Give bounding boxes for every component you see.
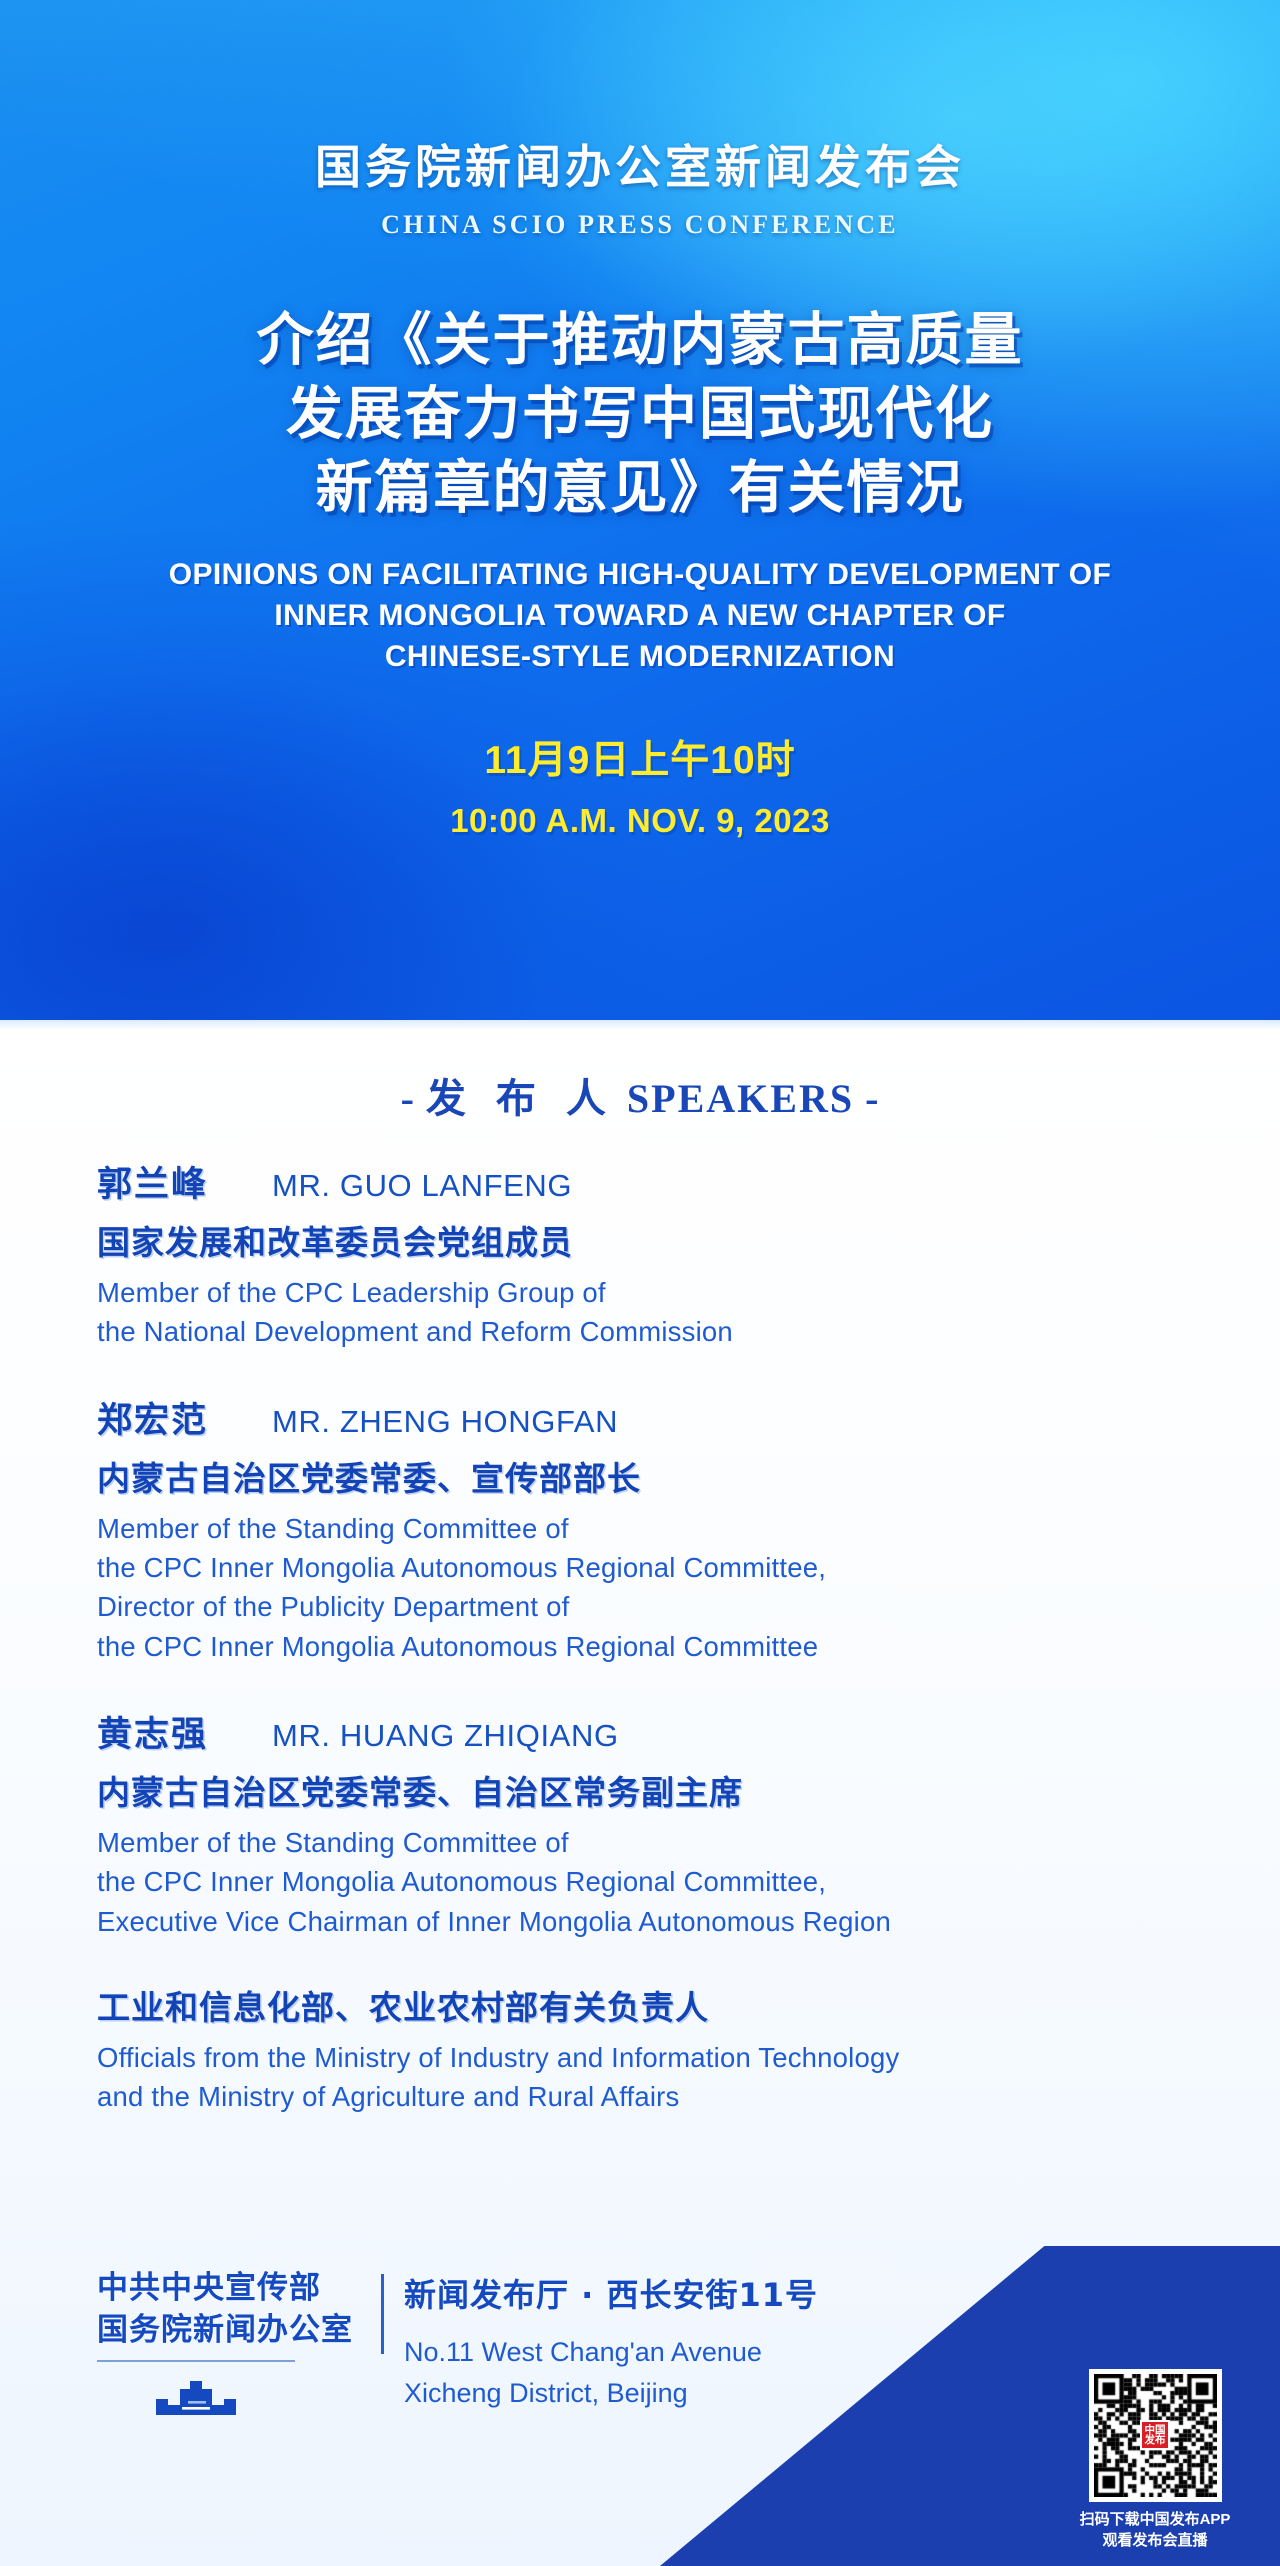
- speaker-title-en-line: the CPC Inner Mongolia Autonomous Region…: [97, 1627, 1240, 1666]
- speaker-title-en-line: Director of the Publicity Department of: [97, 1587, 1240, 1626]
- speakers-heading-dash-left: -: [401, 1076, 415, 1121]
- speaker-title-en: Member of the Standing Committee of the …: [97, 1509, 1240, 1666]
- qr-code-image[interactable]: 中国 发布: [1089, 2369, 1222, 2502]
- qr-center-logo-line-2: 发布: [1145, 2435, 1166, 2446]
- speaker-name-cn: 黄志强: [97, 1706, 208, 1757]
- speaker-title-en: Member of the Standing Committee of the …: [97, 1823, 1240, 1941]
- scio-logo-block: 中共中央宣传部 国务院新闻办公室: [97, 2268, 367, 2419]
- conference-date-en: 10:00 A.M. NOV. 9, 2023: [0, 801, 1280, 841]
- speaker-title-en-line: Member of the CPC Leadership Group of: [97, 1273, 1240, 1312]
- scio-logo-line-2: 国务院新闻办公室: [97, 2310, 367, 2352]
- speaker-list: 郭兰峰 MR. GUO LANFENG 国家发展和改革委员会党组成员 Membe…: [0, 1156, 1280, 2116]
- qr-caption: 扫码下载中国发布APP 观看发布会直播: [1066, 2509, 1244, 2553]
- speaker-title-en: Member of the CPC Leadership Group of th…: [97, 1273, 1240, 1352]
- qr-caption-line-1: 扫码下载中国发布APP: [1066, 2509, 1244, 2531]
- qr-caption-line-2: 观看发布会直播: [1066, 2530, 1244, 2552]
- speaker-name-en: MR. ZHENG HONGFAN: [272, 1404, 618, 1440]
- logo-divider-rule: [97, 2360, 295, 2362]
- venue-address-cn: 新闻发布厅 · 西长安街11号: [404, 2270, 818, 2316]
- speakers-heading-dash-right: -: [865, 1076, 879, 1121]
- hero-banner: 国务院新闻办公室新闻发布会 CHINA SCIO PRESS CONFERENC…: [0, 0, 1280, 1020]
- conference-title-en-line-1: OPINIONS ON FACILITATING HIGH-QUALITY DE…: [0, 555, 1280, 596]
- organization-name-cn: 国务院新闻办公室新闻发布会: [0, 143, 1280, 194]
- speaker-title-en-line: Executive Vice Chairman of Inner Mongoli…: [97, 1902, 1240, 1941]
- speaker-name-en: MR. GUO LANFENG: [272, 1168, 572, 1204]
- speakers-heading: - 发 布 人 SPEAKERS -: [0, 1066, 1280, 1124]
- speaker-name-cn: 郭兰峰: [97, 1156, 208, 1207]
- conference-title-cn: 介绍《关于推动内蒙古高质量 发展奋力书写中国式现代化 新篇章的意见》有关情况: [0, 303, 1280, 525]
- speaker-title-en: Officials from the Ministry of Industry …: [97, 2038, 1240, 2117]
- speaker-title-en-line: Member of the Standing Committee of: [97, 1509, 1240, 1548]
- speaker-name-cn: 郑宏范: [97, 1392, 208, 1443]
- speakers-heading-cn: 发 布 人: [426, 1076, 616, 1121]
- speaker-title-cn: 内蒙古自治区党委常委、宣传部部长: [97, 1452, 1240, 1500]
- speaker-item: 郑宏范 MR. ZHENG HONGFAN 内蒙古自治区党委常委、宣传部部长 M…: [97, 1392, 1240, 1666]
- venue-address-en: No.11 West Chang'an Avenue Xicheng Distr…: [404, 2332, 818, 2413]
- organization-name-en: CHINA SCIO PRESS CONFERENCE: [0, 211, 1280, 240]
- conference-title-en-line-3: CHINESE-STYLE MODERNIZATION: [0, 637, 1280, 678]
- speaker-title-cn: 国家发展和改革委员会党组成员: [97, 1216, 1240, 1264]
- conference-title-cn-line-1: 介绍《关于推动内蒙古高质量: [0, 303, 1280, 377]
- press-conference-poster: 国务院新闻办公室新闻发布会 CHINA SCIO PRESS CONFERENC…: [0, 0, 1280, 2566]
- speaker-title-en-line: and the Ministry of Agriculture and Rura…: [97, 2077, 1240, 2116]
- speaker-name-row: 郭兰峰 MR. GUO LANFENG: [97, 1156, 1240, 1207]
- venue-block: 新闻发布厅 · 西长安街11号 No.11 West Chang'an Aven…: [384, 2268, 818, 2419]
- speaker-item: 黄志强 MR. HUANG ZHIQIANG 内蒙古自治区党委常委、自治区常务副…: [97, 1706, 1240, 1941]
- speaker-item: 郭兰峰 MR. GUO LANFENG 国家发展和改革委员会党组成员 Membe…: [97, 1156, 1240, 1352]
- speaker-name-row: 黄志强 MR. HUANG ZHIQIANG: [97, 1706, 1240, 1757]
- footer: 中共中央宣传部 国务院新闻办公室 新闻发布厅 · 西长安街11号: [0, 2246, 1280, 2566]
- speaker-title-en-line: Officials from the Ministry of Industry …: [97, 2038, 1240, 2077]
- conference-title-cn-line-2: 发展奋力书写中国式现代化: [0, 377, 1280, 451]
- speakers-section: - 发 布 人 SPEAKERS - 郭兰峰 MR. GUO LANFENG 国…: [0, 1020, 1280, 2566]
- podium-icon: [97, 2371, 295, 2419]
- speakers-heading-en: SPEAKERS: [627, 1076, 854, 1121]
- speaker-title-en-line: the National Development and Reform Comm…: [97, 1312, 1240, 1351]
- speaker-name-en: MR. HUANG ZHIQIANG: [272, 1718, 619, 1754]
- speaker-title-en-line: the CPC Inner Mongolia Autonomous Region…: [97, 1548, 1240, 1587]
- qr-code-block[interactable]: 中国 发布 扫码下载中国发布APP 观看发布会直播: [1066, 2369, 1244, 2553]
- conference-title-en-line-2: INNER MONGOLIA TOWARD A NEW CHAPTER OF: [0, 596, 1280, 637]
- conference-title-cn-line-3: 新篇章的意见》有关情况: [0, 451, 1280, 525]
- speaker-item: 工业和信息化部、农业农村部有关负责人 Officials from the Mi…: [97, 1981, 1240, 2117]
- speaker-name-row: 郑宏范 MR. ZHENG HONGFAN: [97, 1392, 1240, 1443]
- conference-date-cn: 11月9日上午10时: [0, 738, 1280, 785]
- venue-address-en-line-2: Xicheng District, Beijing: [404, 2373, 818, 2414]
- scio-logo-line-1: 中共中央宣传部: [97, 2268, 367, 2310]
- speaker-title-cn: 工业和信息化部、农业农村部有关负责人: [97, 1981, 1240, 2029]
- venue-address-en-line-1: No.11 West Chang'an Avenue: [404, 2332, 818, 2373]
- conference-title-en: OPINIONS ON FACILITATING HIGH-QUALITY DE…: [0, 555, 1280, 677]
- speaker-title-en-line: the CPC Inner Mongolia Autonomous Region…: [97, 1862, 1240, 1901]
- qr-center-logo: 中国 发布: [1140, 2420, 1170, 2450]
- speaker-title-cn: 内蒙古自治区党委常委、自治区常务副主席: [97, 1766, 1240, 1814]
- speaker-title-en-line: Member of the Standing Committee of: [97, 1823, 1240, 1862]
